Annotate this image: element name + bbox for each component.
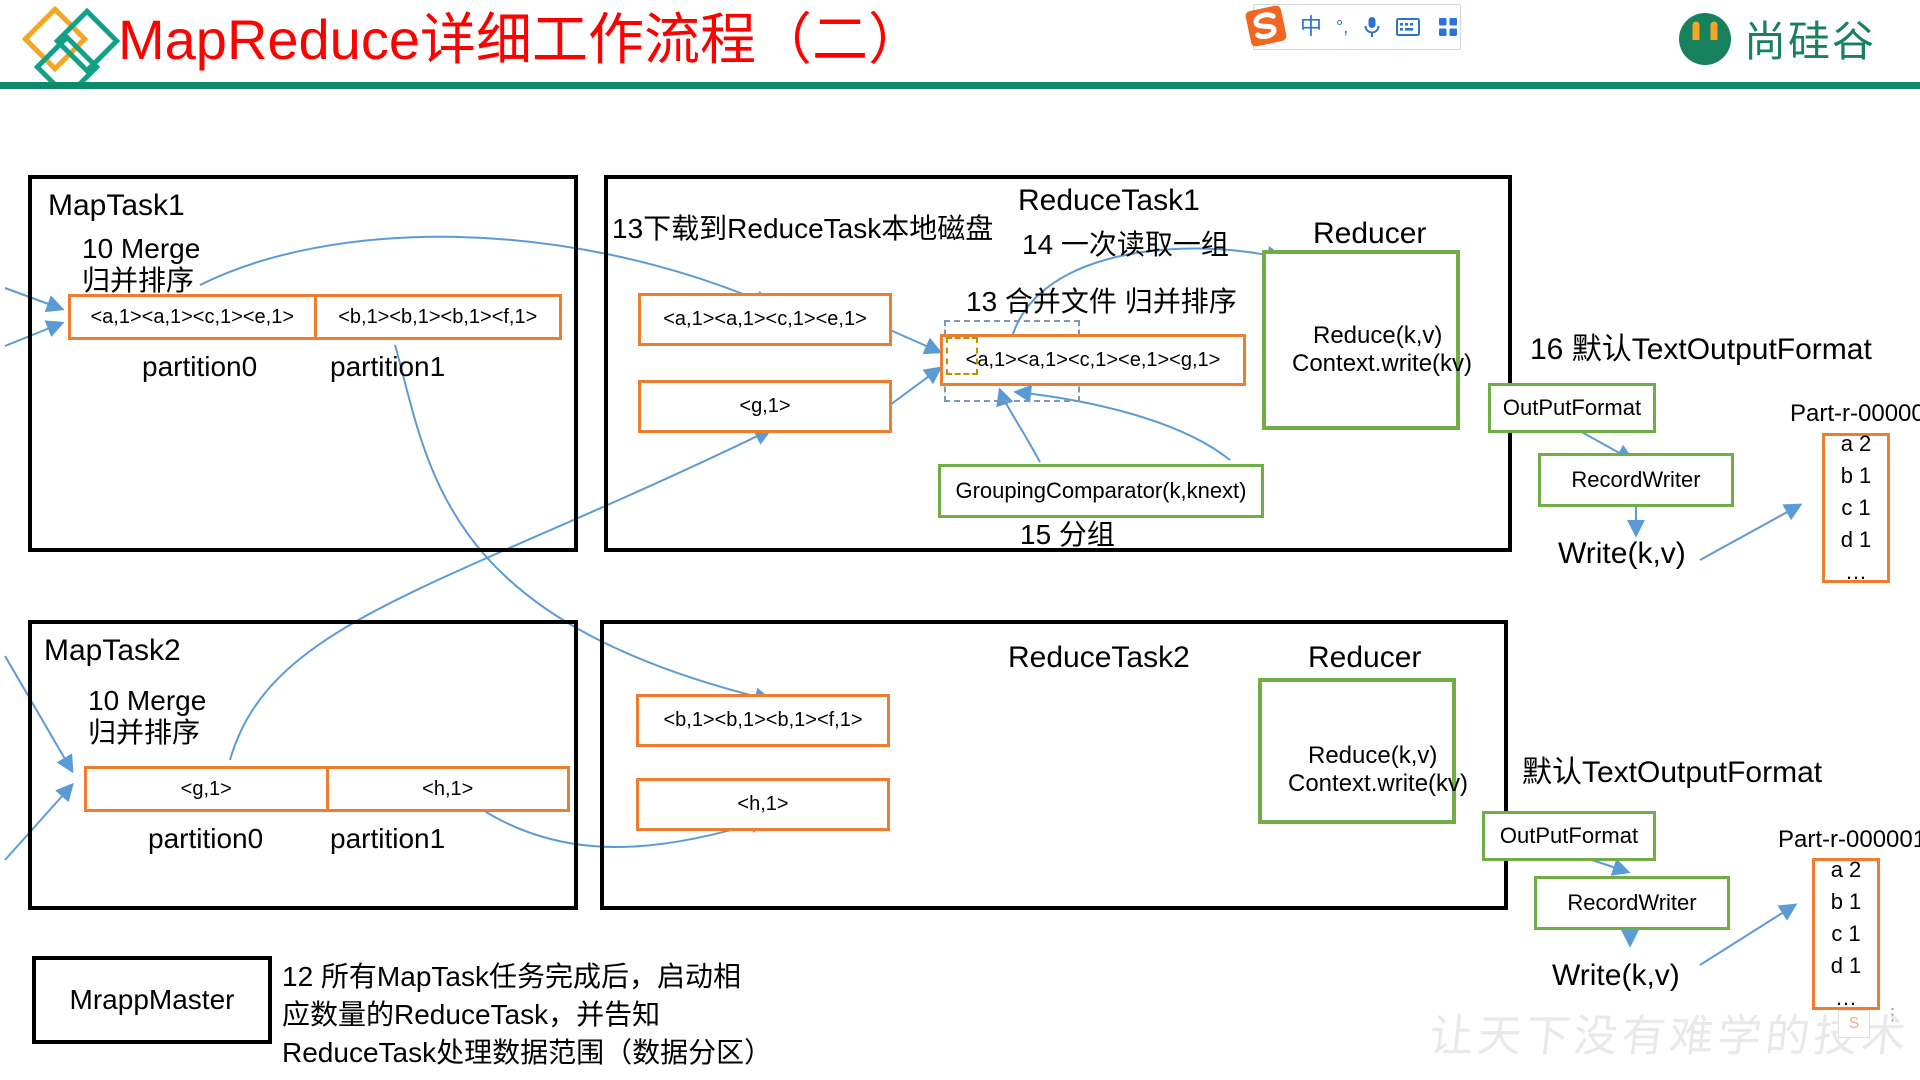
sogou-input-icon[interactable] <box>1242 2 1290 50</box>
maptask1-partition0-label: partition0 <box>142 350 257 383</box>
reducetask1-merged-file[interactable]: <a,1><a,1><c,1><e,1><g,1> <box>940 334 1246 386</box>
maptask2-merge-label-line2: 归并排序 <box>88 716 200 749</box>
grouping-comparator-box[interactable]: GroupingComparator(k,knext) <box>938 464 1264 518</box>
slide-header: MapReduce详细工作流程（二） <box>0 0 1920 92</box>
mrappmaster-note-line1: 12 所有MapTask任务完成后，启动相 <box>282 960 741 993</box>
reducetask2-part-file[interactable]: a 2 b 1 c 1 d 1 … <box>1812 858 1880 1010</box>
maptask2-merge-label-line1: 10 Merge <box>88 684 206 717</box>
brand-name: 尚硅谷 <box>1744 8 1876 69</box>
mrappmaster-label: MrappMaster <box>70 984 235 1016</box>
reducetask1-part-file[interactable]: a 2 b 1 c 1 d 1 … <box>1822 433 1890 583</box>
grouping-label: 15 分组 <box>1020 518 1115 551</box>
brand-logo: 尚硅谷 <box>1676 8 1876 69</box>
reducetask1-title: ReduceTask1 <box>1018 183 1200 218</box>
part-file-row: a 2 <box>1831 854 1862 886</box>
reducetask1-read-group-label: 14 一次读取一组 <box>1022 228 1229 261</box>
reducetask1-reducer-line1: Reduce(k,v) <box>1313 322 1442 350</box>
shangguigu-diamonds-logo <box>14 4 134 88</box>
mrappmaster-note-line3: ReduceTask处理数据范围（数据分区） <box>282 1036 772 1069</box>
watermark-badge-icon: S <box>1838 1010 1870 1038</box>
maptask2-partition0-label: partition0 <box>148 822 263 855</box>
part-file-row: b 1 <box>1831 886 1862 918</box>
reducetask1-reducer-title: Reducer <box>1313 216 1426 251</box>
maptask1-partition0-cell[interactable]: <a,1><a,1><c,1><e,1> <box>71 297 314 337</box>
maptask2-title: MapTask2 <box>44 633 181 668</box>
reducetask2-outputformat-box[interactable]: OutPutFormat <box>1482 811 1656 861</box>
maptask2-partition1-label: partition1 <box>330 822 445 855</box>
part-file-row: … <box>1845 556 1867 588</box>
reducetask1-outputformat-box[interactable]: OutPutFormat <box>1488 383 1656 433</box>
part-file-row: d 1 <box>1831 950 1862 982</box>
ime-voice-input-icon[interactable] <box>1362 15 1382 39</box>
maptask1-partition1-label: partition1 <box>330 350 445 383</box>
reducetask1-write-label: Write(k,v) <box>1558 536 1686 571</box>
ime-toolbox-icon[interactable] <box>1438 17 1458 37</box>
watermark-dots-icon: ⋮ <box>1884 1008 1901 1022</box>
reducetask2-reducer-title: Reducer <box>1308 640 1421 675</box>
maptask2-partition0-cell[interactable]: <g,1> <box>87 769 326 809</box>
maptask1-partition1-cell[interactable]: <b,1><b,1><b,1><f,1> <box>314 297 560 337</box>
page-title: MapReduce详细工作流程（二） <box>118 4 924 76</box>
ime-punctuation-icon[interactable]: °, <box>1336 18 1348 36</box>
merged-file-first-key-outline <box>946 337 978 375</box>
reducetask2-title: ReduceTask2 <box>1008 640 1190 675</box>
shangguigu-u-icon <box>1676 10 1734 68</box>
maptask2-partition1-cell[interactable]: <h,1> <box>326 769 568 809</box>
mrappmaster-note-line2: 应数量的ReduceTask，并告知 <box>282 998 660 1031</box>
header-rule <box>0 82 1920 89</box>
reducetask2-fetched-file-1[interactable]: <h,1> <box>636 778 890 831</box>
reducetask1-output-format-label: 16 默认TextOutputFormat <box>1530 332 1872 367</box>
part-file-row: d 1 <box>1841 524 1872 556</box>
part-file-row: a 2 <box>1841 428 1872 460</box>
maptask1-merge-label-line1: 10 Merge <box>82 232 200 265</box>
reducetask1-part-file-name: Part-r-000000 <box>1790 400 1920 428</box>
reducetask1-fetched-file-0[interactable]: <a,1><a,1><c,1><e,1> <box>638 293 892 346</box>
reducetask2-recordwriter-box[interactable]: RecordWriter <box>1534 876 1730 930</box>
reducetask1-recordwriter-box[interactable]: RecordWriter <box>1538 453 1734 507</box>
maptask1-title: MapTask1 <box>48 188 185 223</box>
reducetask1-reducer-line2: Context.write(kv) <box>1292 350 1472 378</box>
maptask1-merge-label-line2: 归并排序 <box>82 264 194 297</box>
reducetask1-merge-files-label: 13 合并文件 归并排序 <box>966 285 1237 318</box>
part-file-row: c 1 <box>1841 492 1870 524</box>
reducetask1-download-label: 13下载到ReduceTask本地磁盘 <box>612 212 993 245</box>
part-file-row: b 1 <box>1841 460 1872 492</box>
mrappmaster-box[interactable]: MrappMaster <box>32 956 272 1044</box>
reducetask2-reducer-line1: Reduce(k,v) <box>1308 742 1437 770</box>
reducetask2-fetched-file-0[interactable]: <b,1><b,1><b,1><f,1> <box>636 694 890 747</box>
ime-soft-keyboard-icon[interactable] <box>1396 18 1420 36</box>
reducetask2-part-file-name: Part-r-000001 <box>1778 826 1920 854</box>
reducetask1-fetched-file-1[interactable]: <g,1> <box>638 380 892 433</box>
maptask1-partition-bar: <a,1><a,1><c,1><e,1> <b,1><b,1><b,1><f,1… <box>68 294 562 340</box>
part-file-row: c 1 <box>1831 918 1860 950</box>
reducetask2-output-format-label: 默认TextOutputFormat <box>1522 755 1822 790</box>
maptask2-partition-bar: <g,1> <h,1> <box>84 766 570 812</box>
ime-mode-chinese-icon[interactable]: 中 <box>1300 16 1322 38</box>
reducetask2-write-label: Write(k,v) <box>1552 958 1680 993</box>
reducetask2-reducer-line2: Context.write(kv) <box>1288 770 1468 798</box>
